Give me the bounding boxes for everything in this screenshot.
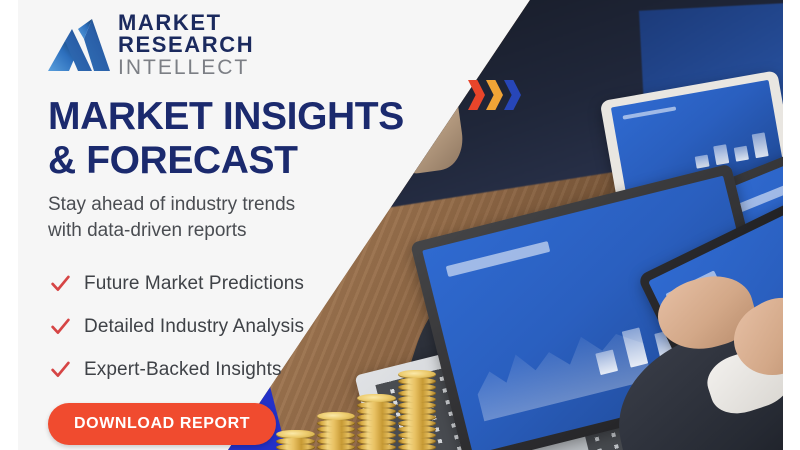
brand-line-3: INTELLECT xyxy=(118,57,254,78)
marketing-banner: MARKET RESEARCH INTELLECT MARKET INSIGHT… xyxy=(0,0,800,450)
download-report-button[interactable]: DOWNLOAD REPORT xyxy=(48,403,276,445)
list-item-label: Expert-Backed Insights xyxy=(84,359,282,381)
chevron-arrows xyxy=(468,80,521,110)
brand-line-1: MARKET xyxy=(118,12,254,34)
list-item: Future Market Predictions xyxy=(50,262,304,305)
mountain-peaks-mark-icon xyxy=(48,17,110,73)
feature-list: Future Market Predictions Detailed Indus… xyxy=(50,262,304,391)
chevron-blue-icon xyxy=(504,80,521,110)
list-item: Detailed Industry Analysis xyxy=(50,305,304,348)
check-icon xyxy=(50,273,71,294)
list-item: Expert-Backed Insights xyxy=(50,348,304,391)
content-column: MARKET RESEARCH INTELLECT MARKET INSIGHT… xyxy=(0,0,470,450)
list-item-label: Future Market Predictions xyxy=(84,273,304,295)
brand-line-2: RESEARCH xyxy=(118,34,254,56)
brand-logo[interactable]: MARKET RESEARCH INTELLECT xyxy=(48,12,254,78)
chevron-amber-icon xyxy=(486,80,503,110)
list-item-label: Detailed Industry Analysis xyxy=(84,316,304,338)
desk-tablet-bars xyxy=(691,124,769,169)
brand-wordmark: MARKET RESEARCH INTELLECT xyxy=(118,12,254,78)
subheadline: Stay ahead of industry trends with data-… xyxy=(48,192,295,244)
check-icon xyxy=(50,316,71,337)
check-icon xyxy=(50,359,71,380)
page-title: MARKET INSIGHTS & FORECAST xyxy=(48,95,404,183)
chevron-red-icon xyxy=(468,80,485,110)
